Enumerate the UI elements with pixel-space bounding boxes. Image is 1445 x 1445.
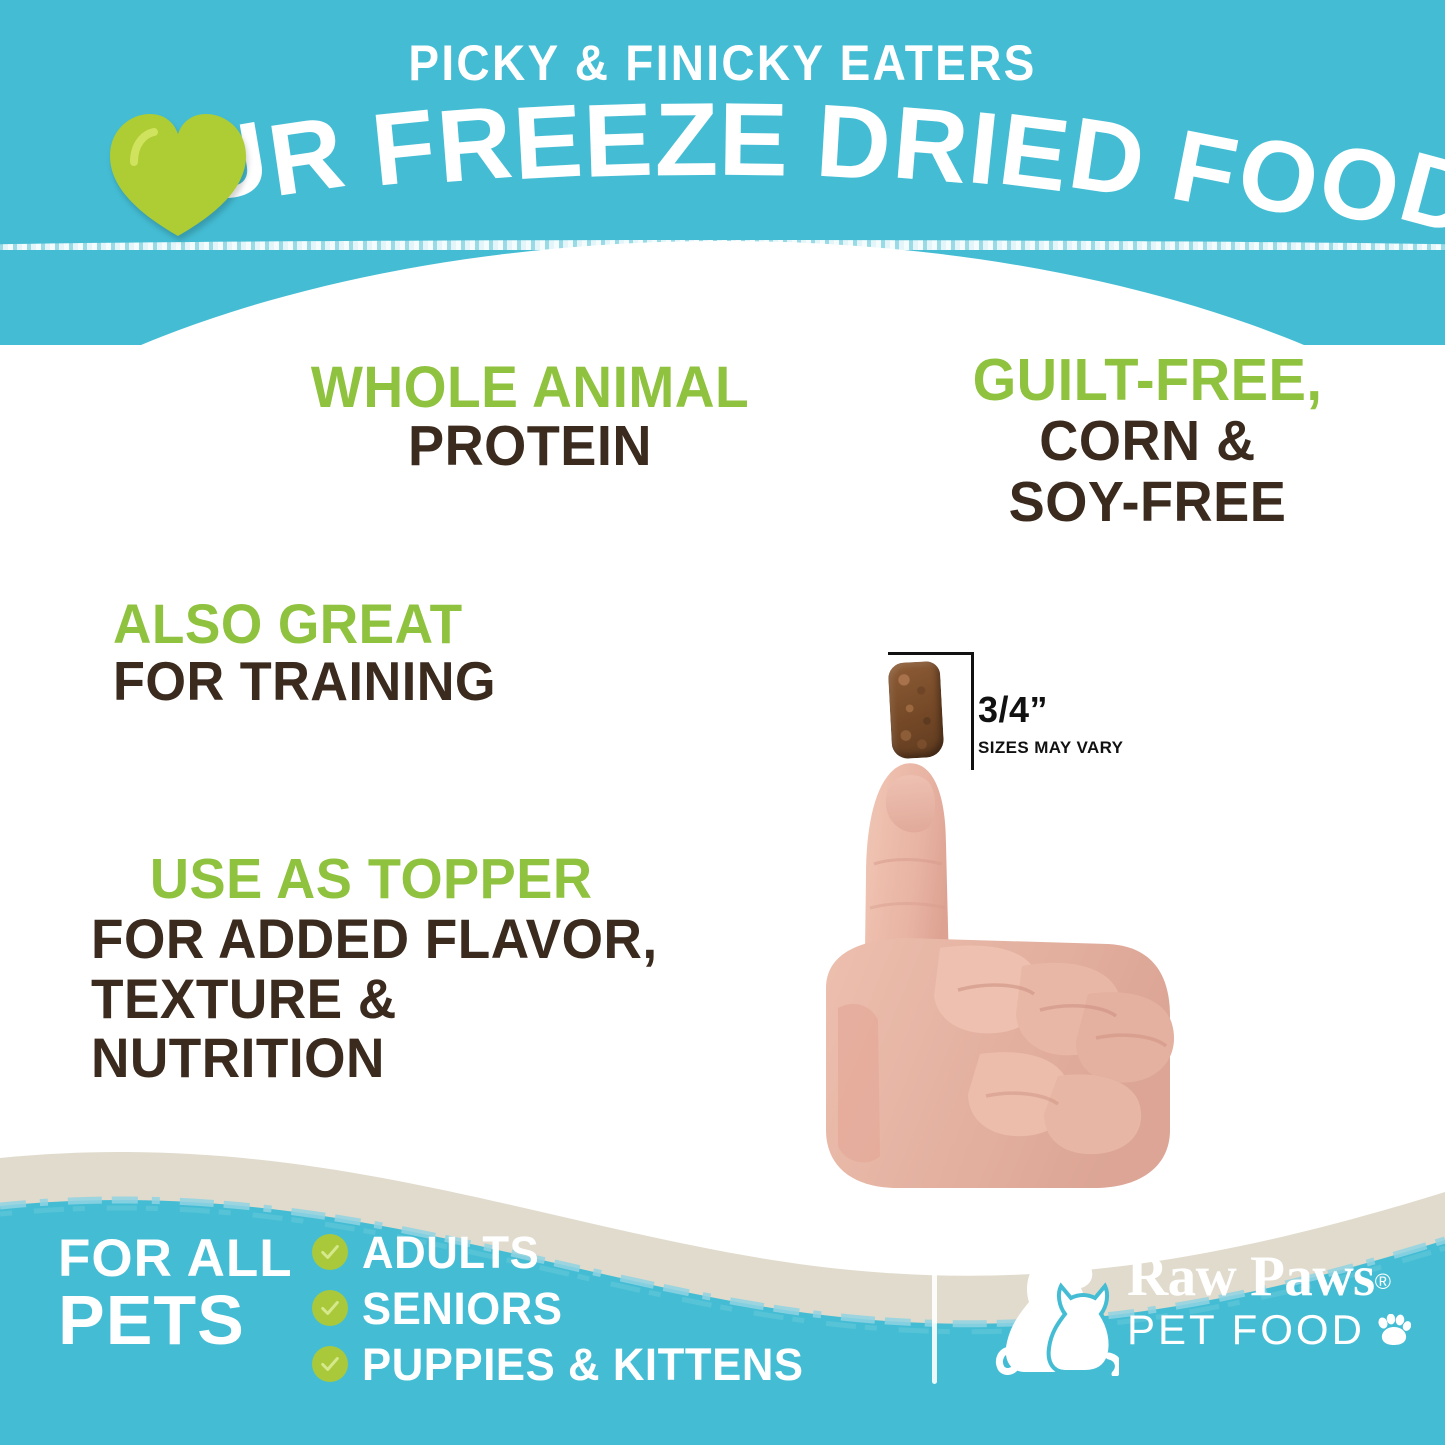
check-circle-icon <box>312 1346 348 1382</box>
size-value: 3/4” <box>978 692 1168 728</box>
logo-tagline-row: PET FOOD <box>1127 1309 1417 1351</box>
feature-brown-line: PROTEIN <box>259 417 801 475</box>
pet-type-label: ADULTS <box>362 1230 539 1275</box>
size-note: SIZES MAY VARY <box>978 738 1168 758</box>
dog-cat-silhouette-icon <box>995 1246 1119 1376</box>
headline-char: R <box>889 91 971 200</box>
feature-whole-animal-protein: WHOLE ANIMAL PROTEIN <box>245 358 815 475</box>
headline-char: E <box>582 88 654 194</box>
paw-print-icon <box>1375 1314 1411 1346</box>
headline-char: D <box>1063 102 1151 214</box>
headline-char: R <box>433 91 515 199</box>
brand-logo: Raw Paws® PET FOOD <box>995 1242 1415 1382</box>
logo-brand-line: Raw Paws® <box>1127 1248 1417 1305</box>
feature-brown-line: SOY-FREE <box>912 472 1382 532</box>
headline-char: E <box>993 98 1074 208</box>
list-item-adults: ADULTS <box>312 1224 817 1280</box>
kibble-piece-icon <box>888 661 945 760</box>
check-circle-icon <box>312 1290 348 1326</box>
feature-brown-line: FOR ADDED FLAVOR, <box>91 909 699 968</box>
headline-char: Z <box>654 88 718 192</box>
pet-type-list: ADULTS SENIORS PUPPIES & KITTENS <box>312 1224 817 1392</box>
for-all-line-2: PETS <box>58 1285 318 1355</box>
list-item-puppies-kittens: PUPPIES & KITTENS <box>312 1336 817 1392</box>
headline-char: D <box>814 89 894 196</box>
feature-brown-line: FOR TRAINING <box>113 653 607 710</box>
feature-use-as-topper: USE AS TOPPER FOR ADDED FLAVOR, TEXTURE … <box>75 850 715 1087</box>
feature-brown-line: TEXTURE & NUTRITION <box>91 969 699 1088</box>
promo-poster: PICKY & FINICKY EATERS OURFREEZEDRIEDFOO… <box>0 0 1445 1445</box>
logo-wordmark: Raw Paws® PET FOOD <box>1127 1248 1417 1351</box>
features-panel: WHOLE ANIMAL PROTEIN GUILT-FREE, CORN & … <box>0 300 1445 1180</box>
headline-char: R <box>262 101 350 213</box>
feature-guilt-free: GUILT-FREE, CORN & SOY-FREE <box>900 350 1395 532</box>
headline-char: E <box>718 88 789 193</box>
heart-icon <box>106 108 250 240</box>
feature-green-line: GUILT-FREE, <box>912 350 1382 411</box>
feature-green-line: WHOLE ANIMAL <box>259 358 801 417</box>
logo-registered-mark: ® <box>1375 1271 1391 1293</box>
size-callout: 3/4” SIZES MAY VARY <box>978 692 1168 758</box>
for-all-pets-heading: FOR ALL PETS <box>58 1232 318 1355</box>
feature-also-great-for-training: ALSO GREAT FOR TRAINING <box>100 595 620 710</box>
check-circle-icon <box>312 1234 348 1270</box>
list-item-seniors: SENIORS <box>312 1280 817 1336</box>
feature-green-line: ALSO GREAT <box>113 595 607 653</box>
logo-tagline: PET FOOD <box>1127 1309 1365 1351</box>
feature-green-line: USE AS TOPPER <box>91 850 699 909</box>
footer-content: FOR ALL PETS ADULTS SENIORS PUPPIES & <box>0 1210 1445 1445</box>
feature-brown-line: CORN & <box>912 411 1382 471</box>
footer-divider <box>932 1234 937 1384</box>
headline-char: E <box>510 89 584 196</box>
pet-type-label: PUPPIES & KITTENS <box>362 1342 804 1387</box>
logo-brand: Raw Paws <box>1127 1248 1375 1305</box>
pet-type-label: SENIORS <box>362 1286 563 1331</box>
for-all-line-1: FOR ALL <box>58 1232 318 1285</box>
headline-char: F <box>367 94 440 202</box>
